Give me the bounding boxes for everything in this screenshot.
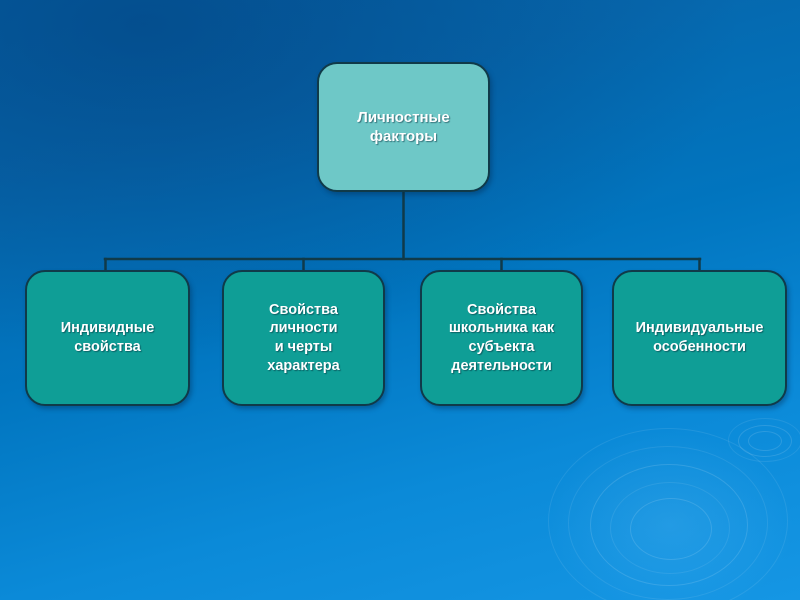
- node-child-2[interactable]: Свойства личности и черты характера: [222, 270, 385, 406]
- node-child-2-label: Свойства личности и черты характера: [259, 301, 347, 375]
- node-child-3[interactable]: Свойства школьника как субъекта деятельн…: [420, 270, 583, 406]
- node-child-4[interactable]: Индивидуальные особенности: [612, 270, 787, 406]
- node-child-1[interactable]: Индивидные свойства: [25, 270, 190, 406]
- node-child-1-label: Индивидные свойства: [53, 319, 163, 356]
- node-root-label: Личностные факторы: [349, 108, 457, 146]
- slide-canvas: Личностные факторы Индивидные свойства С…: [0, 0, 800, 600]
- node-child-3-label: Свойства школьника как субъекта деятельн…: [441, 301, 562, 375]
- node-child-4-label: Индивидуальные особенности: [628, 319, 772, 356]
- node-root[interactable]: Личностные факторы: [317, 62, 490, 192]
